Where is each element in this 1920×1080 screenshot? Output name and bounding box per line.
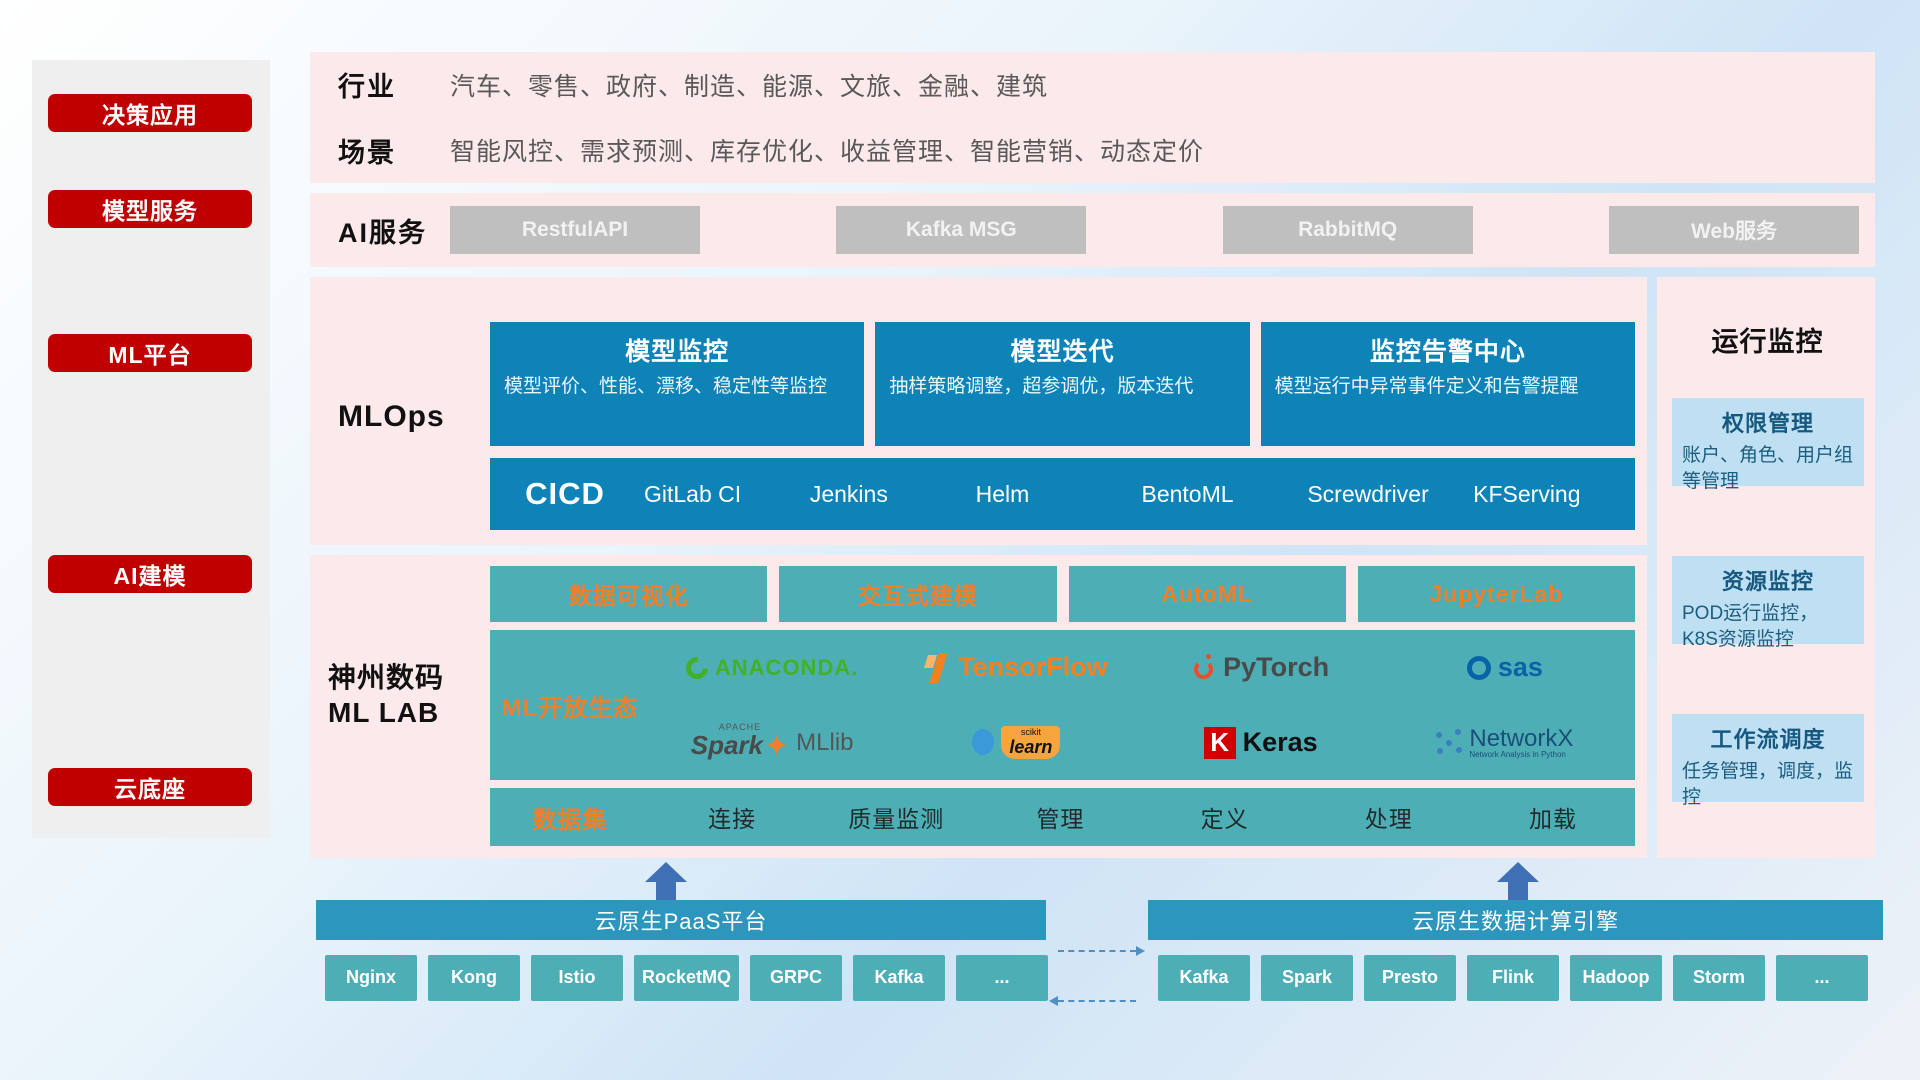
compute-pill-storm[interactable]: Storm	[1673, 955, 1765, 1001]
cicd-bar: CICD GitLab CI Jenkins Helm BentoML Scre…	[490, 458, 1635, 530]
tensorflow-label: TensorFlow	[958, 652, 1108, 683]
compute-pill-spark[interactable]: Spark	[1261, 955, 1353, 1001]
mlops-title: MLOps	[338, 400, 445, 434]
pytorch-label: PyTorch	[1223, 652, 1329, 683]
stage-chip-ai-modeling[interactable]: AI建模	[48, 555, 252, 593]
mlops-card-desc: 抽样策略调整，超参调优，版本迭代	[889, 374, 1235, 400]
cicd-label: CICD	[490, 476, 640, 512]
stage-chip-ml-platform[interactable]: ML平台	[48, 334, 252, 372]
networkx-logo[interactable]: NetworkX Network Analysis in Python	[1383, 726, 1627, 760]
modeling-tool-group: 数据可视化 交互式建模 AutoML JupyterLab	[490, 566, 1635, 622]
spark-mllib-logo[interactable]: APACHE Spark ✦ MLlib	[650, 723, 894, 762]
mlops-card-desc: 模型运行中异常事件定义和告警提醒	[1275, 374, 1621, 400]
ai-service-button-web-service[interactable]: Web服务	[1609, 206, 1859, 254]
scikit-learn-logo[interactable]: scikit learn	[894, 726, 1138, 758]
runtime-monitor-title: 运行监控	[1680, 320, 1855, 359]
ai-service-button-kafka-msg[interactable]: Kafka MSG	[836, 206, 1086, 254]
monitor-card-resource-monitoring[interactable]: 资源监控 POD运行监控，K8S资源监控	[1672, 556, 1864, 644]
networkx-label: NetworkX	[1469, 726, 1573, 751]
monitor-card-permission-management[interactable]: 权限管理 账户、角色、用户组等管理	[1672, 398, 1864, 486]
mlops-card-model-iteration[interactable]: 模型迭代 抽样策略调整，超参调优，版本迭代	[875, 322, 1249, 446]
ml-lab-title: 神州数码 ML LAB	[328, 660, 444, 730]
tensorflow-arrow-icon	[925, 653, 951, 683]
sas-logo[interactable]: sas	[1383, 652, 1627, 683]
stage-rail	[32, 60, 270, 838]
mllib-label: MLlib	[796, 729, 853, 757]
industry-row-label: 行业	[338, 65, 450, 104]
dataset-item-group: 连接 质量监测 管理 定义 处理 加载	[650, 800, 1635, 834]
stage-chip-cloud-base[interactable]: 云底座	[48, 768, 252, 806]
industry-row: 行业 汽车、零售、政府、制造、能源、文旅、金融、建筑	[310, 52, 1875, 118]
application-layer-panel: 行业 汽车、零售、政府、制造、能源、文旅、金融、建筑 场景 智能风控、需求预测、…	[310, 52, 1875, 183]
ai-service-layer-panel: AI服务 RestfulAPI Kafka MSG RabbitMQ Web服务	[310, 193, 1875, 267]
monitor-card-desc: 账户、角色、用户组等管理	[1682, 443, 1854, 494]
cicd-item-kfserving[interactable]: KFServing	[1469, 481, 1635, 507]
cicd-item-gitlab-ci[interactable]: GitLab CI	[640, 481, 806, 507]
ml-open-ecosystem-label: ML开放生态	[490, 688, 650, 723]
spark-label: Spark	[691, 732, 763, 758]
scenario-row-values: 智能风控、需求预测、库存优化、收益管理、智能营销、动态定价	[450, 132, 1204, 168]
architecture-diagram: 决策应用 模型服务 ML平台 AI建模 云底座 行业 汽车、零售、政府、制造、能…	[0, 0, 1920, 1080]
cicd-item-jenkins[interactable]: Jenkins	[806, 481, 972, 507]
compute-pill-more[interactable]: ...	[1776, 955, 1868, 1001]
stage-chip-model-service[interactable]: 模型服务	[48, 190, 252, 228]
ai-service-button-rabbitmq[interactable]: RabbitMQ	[1223, 206, 1473, 254]
ai-service-button-restfulapi[interactable]: RestfulAPI	[450, 206, 700, 254]
pytorch-flame-icon	[1192, 654, 1216, 681]
anaconda-ring-icon	[681, 652, 712, 683]
keras-label: Keras	[1243, 727, 1318, 758]
tensorflow-logo[interactable]: TensorFlow	[894, 652, 1138, 683]
monitor-card-title: 资源监控	[1682, 564, 1854, 596]
paas-pill-group: Nginx Kong Istio RocketMQ GRPC Kafka ...	[325, 955, 1048, 1001]
monitor-card-title: 权限管理	[1682, 406, 1854, 438]
stage-chip-label: 云底座	[114, 770, 186, 804]
mlops-card-desc: 模型评价、性能、漂移、稳定性等监控	[504, 374, 850, 400]
networkx-tagline: Network Analysis in Python	[1469, 751, 1573, 759]
paas-pill-kafka[interactable]: Kafka	[853, 955, 945, 1001]
dataset-band: 数据集 连接 质量监测 管理 定义 处理 加载	[490, 788, 1635, 846]
ml-lab-title-line1: 神州数码	[328, 660, 444, 695]
cicd-item-bentoml[interactable]: BentoML	[1137, 481, 1303, 507]
cloud-native-compute-engine-bar[interactable]: 云原生数据计算引擎	[1148, 900, 1883, 940]
paas-pill-nginx[interactable]: Nginx	[325, 955, 417, 1001]
compute-pill-kafka[interactable]: Kafka	[1158, 955, 1250, 1001]
mlops-card-title: 模型监控	[504, 332, 850, 368]
networkx-graph-icon	[1436, 729, 1462, 755]
mlops-card-title: 模型迭代	[889, 332, 1235, 368]
monitor-card-title: 工作流调度	[1682, 722, 1854, 754]
spark-star-icon: ✦	[764, 732, 789, 762]
paas-pill-grpc[interactable]: GRPC	[750, 955, 842, 1001]
dataset-item-load[interactable]: 加载	[1471, 800, 1635, 834]
cicd-item-screwdriver[interactable]: Screwdriver	[1303, 481, 1469, 507]
cloud-native-paas-label: 云原生PaaS平台	[595, 904, 768, 936]
paas-pill-kong[interactable]: Kong	[428, 955, 520, 1001]
mlops-card-model-monitoring[interactable]: 模型监控 模型评价、性能、漂移、稳定性等监控	[490, 322, 864, 446]
monitor-card-desc: 任务管理，调度，监控	[1682, 759, 1854, 810]
sas-circle-icon	[1467, 656, 1491, 680]
cicd-item-helm[interactable]: Helm	[972, 481, 1138, 507]
monitor-card-desc: POD运行监控，K8S资源监控	[1682, 601, 1854, 652]
stage-chip-label: 决策应用	[102, 96, 198, 130]
scikit-learn-badge: scikit learn	[1001, 726, 1060, 758]
stage-chip-label: 模型服务	[102, 192, 198, 226]
anaconda-logo[interactable]: ANACONDA.	[650, 655, 894, 681]
tool-chip-automl[interactable]: AutoML	[1069, 566, 1346, 622]
ai-service-label: AI服务	[338, 211, 450, 250]
compute-engine-pill-group: Kafka Spark Presto Flink Hadoop Storm ..…	[1158, 955, 1868, 1001]
dataset-label: 数据集	[490, 800, 650, 835]
compute-pill-flink[interactable]: Flink	[1467, 955, 1559, 1001]
scikit-learn-label: learn	[1009, 737, 1052, 757]
scikit-learn-icon	[972, 729, 994, 755]
paas-pill-rocketmq[interactable]: RocketMQ	[634, 955, 739, 1001]
industry-row-values: 汽车、零售、政府、制造、能源、文旅、金融、建筑	[450, 67, 1048, 103]
cicd-item-group: GitLab CI Jenkins Helm BentoML Screwdriv…	[640, 481, 1635, 507]
compute-pill-hadoop[interactable]: Hadoop	[1570, 955, 1662, 1001]
anaconda-label: ANACONDA.	[715, 655, 858, 681]
cloud-native-compute-engine-label: 云原生数据计算引擎	[1412, 904, 1619, 936]
tool-chip-interactive-modeling[interactable]: 交互式建模	[779, 566, 1056, 622]
stage-chip-label: ML平台	[108, 336, 191, 370]
stage-chip-label: AI建模	[114, 557, 187, 591]
dataset-item-define[interactable]: 定义	[1143, 800, 1307, 834]
dashed-arrow-right-icon	[1058, 950, 1136, 952]
keras-logo[interactable]: K Keras	[1139, 727, 1383, 759]
dataset-item-connect[interactable]: 连接	[650, 800, 814, 834]
tool-chip-jupyterlab[interactable]: JupyterLab	[1358, 566, 1635, 622]
compute-pill-presto[interactable]: Presto	[1364, 955, 1456, 1001]
ml-lab-title-line2: ML LAB	[328, 695, 444, 730]
stage-chip-decision-application[interactable]: 决策应用	[48, 94, 252, 132]
tool-chip-data-visualization[interactable]: 数据可视化	[490, 566, 767, 622]
pytorch-logo[interactable]: PyTorch	[1139, 652, 1383, 683]
dataset-item-quality-monitoring[interactable]: 质量监测	[814, 800, 978, 834]
ai-service-button-group: RestfulAPI Kafka MSG RabbitMQ Web服务	[450, 206, 1859, 254]
paas-pill-istio[interactable]: Istio	[531, 955, 623, 1001]
ecosystem-logo-grid: ANACONDA. TensorFlow PyTorch sas APACHE …	[650, 630, 1635, 780]
keras-k-icon: K	[1204, 727, 1236, 759]
cloud-native-paas-bar[interactable]: 云原生PaaS平台	[316, 900, 1046, 940]
dataset-item-manage[interactable]: 管理	[978, 800, 1142, 834]
mlops-card-title: 监控告警中心	[1275, 332, 1621, 368]
scenario-row-label: 场景	[338, 131, 450, 170]
ml-open-ecosystem-band: ML开放生态 ANACONDA. TensorFlow PyTorch sas	[490, 630, 1635, 780]
sas-label: sas	[1498, 652, 1543, 683]
mlops-card-alert-center[interactable]: 监控告警中心 模型运行中异常事件定义和告警提醒	[1261, 322, 1635, 446]
dataset-item-process[interactable]: 处理	[1307, 800, 1471, 834]
scenario-row: 场景 智能风控、需求预测、库存优化、收益管理、智能营销、动态定价	[310, 118, 1875, 184]
dashed-arrow-left-icon	[1058, 1000, 1136, 1002]
monitor-card-workflow-scheduling[interactable]: 工作流调度 任务管理，调度，监控	[1672, 714, 1864, 802]
mlops-card-group: 模型监控 模型评价、性能、漂移、稳定性等监控 模型迭代 抽样策略调整，超参调优，…	[490, 322, 1635, 446]
paas-pill-more[interactable]: ...	[956, 955, 1048, 1001]
